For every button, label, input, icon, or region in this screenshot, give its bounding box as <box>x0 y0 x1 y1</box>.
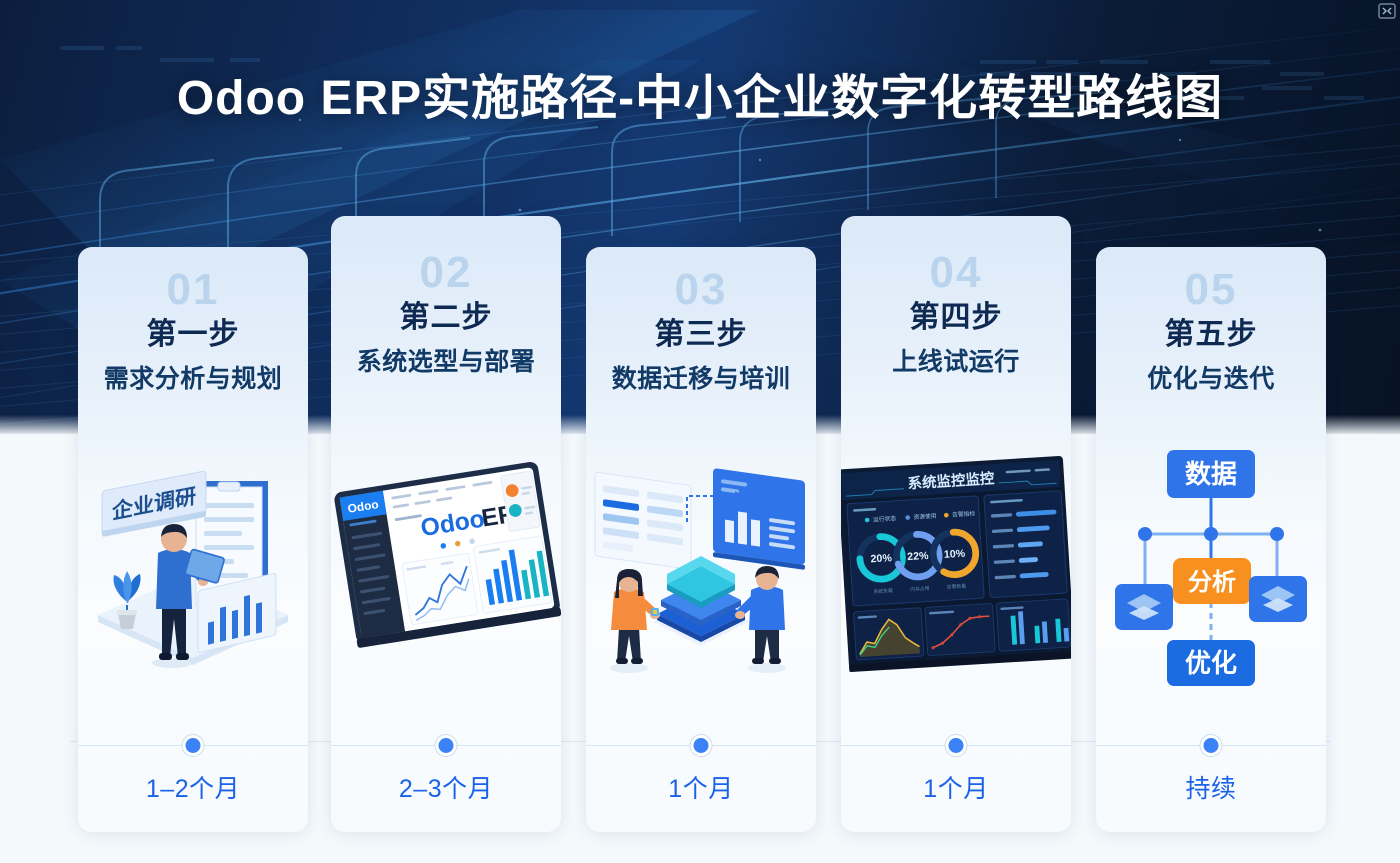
step-card-04[interactable]: 04 第四步 上线试运行 系统监控监控 <box>841 216 1071 832</box>
timeline-dot[interactable] <box>439 738 454 753</box>
gauge-value: 20% <box>870 552 893 565</box>
timeline-dot[interactable] <box>1204 738 1219 753</box>
step-description: 需求分析与规划 <box>78 359 308 395</box>
step-card-01-header: 01 第一步 需求分析与规划 <box>78 247 308 433</box>
step-name: 第三步 <box>586 309 816 353</box>
layers-icon-left <box>1115 584 1173 630</box>
layers-icon-right <box>1249 576 1307 622</box>
enterprise-research-illustration: 企业调研 <box>78 433 308 693</box>
step-duration: 持续 <box>1096 769 1326 805</box>
step-timeline-05: 持续 <box>1096 693 1326 803</box>
step-name: 第一步 <box>78 309 308 353</box>
flow-node-label: 优化 <box>1185 648 1237 678</box>
step-number: 05 <box>1096 265 1326 315</box>
step-name: 第五步 <box>1096 309 1326 353</box>
step-timeline-04: 1个月 <box>841 693 1071 803</box>
step-card-02[interactable]: 02 第二步 系统选型与部署 Odoo <box>331 216 561 832</box>
step-card-05-header: 05 第五步 优化与迭代 <box>1096 247 1326 433</box>
step-card-03-header: 03 第三步 数据迁移与培训 <box>586 247 816 433</box>
flow-node-label: 分析 <box>1188 569 1236 596</box>
step-number: 01 <box>78 265 308 315</box>
timeline-dot[interactable] <box>694 738 709 753</box>
system-monitoring-dashboard-illustration: 系统监控监控 运行状态 <box>841 433 1071 693</box>
step-number: 02 <box>331 248 561 298</box>
step-number: 03 <box>586 265 816 315</box>
step-timeline-03: 1个月 <box>586 693 816 803</box>
step-duration: 2–3个月 <box>331 769 561 805</box>
gauge-value: 10% <box>944 548 967 561</box>
step-card-02-header: 02 第二步 系统选型与部署 <box>331 216 561 433</box>
step-description: 数据迁移与培训 <box>586 359 816 395</box>
data-migration-training-illustration <box>586 433 816 693</box>
step-name: 第四步 <box>841 292 1071 336</box>
timeline-dot[interactable] <box>186 738 201 753</box>
step-card-03[interactable]: 03 第三步 数据迁移与培训 <box>586 247 816 832</box>
step-number: 04 <box>841 248 1071 298</box>
step-name: 第二步 <box>331 292 561 336</box>
flow-node-label: 数据 <box>1185 459 1237 489</box>
step-card-04-header: 04 第四步 上线试运行 <box>841 216 1071 433</box>
step-description: 系统选型与部署 <box>331 342 561 378</box>
step-timeline-01: 1–2个月 <box>78 693 308 803</box>
infographic-page: Odoo ERP实施路径-中小企业数字化转型路线图 01 第一步 需求分析与规划 <box>0 0 1400 863</box>
step-duration: 1个月 <box>586 769 816 805</box>
step-description: 优化与迭代 <box>1096 359 1326 395</box>
step-duration: 1个月 <box>841 769 1071 805</box>
step-timeline-02: 2–3个月 <box>331 693 561 803</box>
step-card-05[interactable]: 05 第五步 优化与迭代 数据 <box>1096 247 1326 832</box>
odoo-erp-dashboard-illustration: Odoo <box>331 433 561 693</box>
step-duration: 1–2个月 <box>78 769 308 805</box>
step-card-01[interactable]: 01 第一步 需求分析与规划 <box>78 247 308 832</box>
gauge-value: 22% <box>907 550 930 563</box>
timeline-dot[interactable] <box>949 738 964 753</box>
optimize-iterate-flow-illustration: 数据 分析 优化 <box>1096 433 1326 693</box>
steps-container: 01 第一步 需求分析与规划 <box>0 0 1400 863</box>
step-description: 上线试运行 <box>841 342 1071 378</box>
